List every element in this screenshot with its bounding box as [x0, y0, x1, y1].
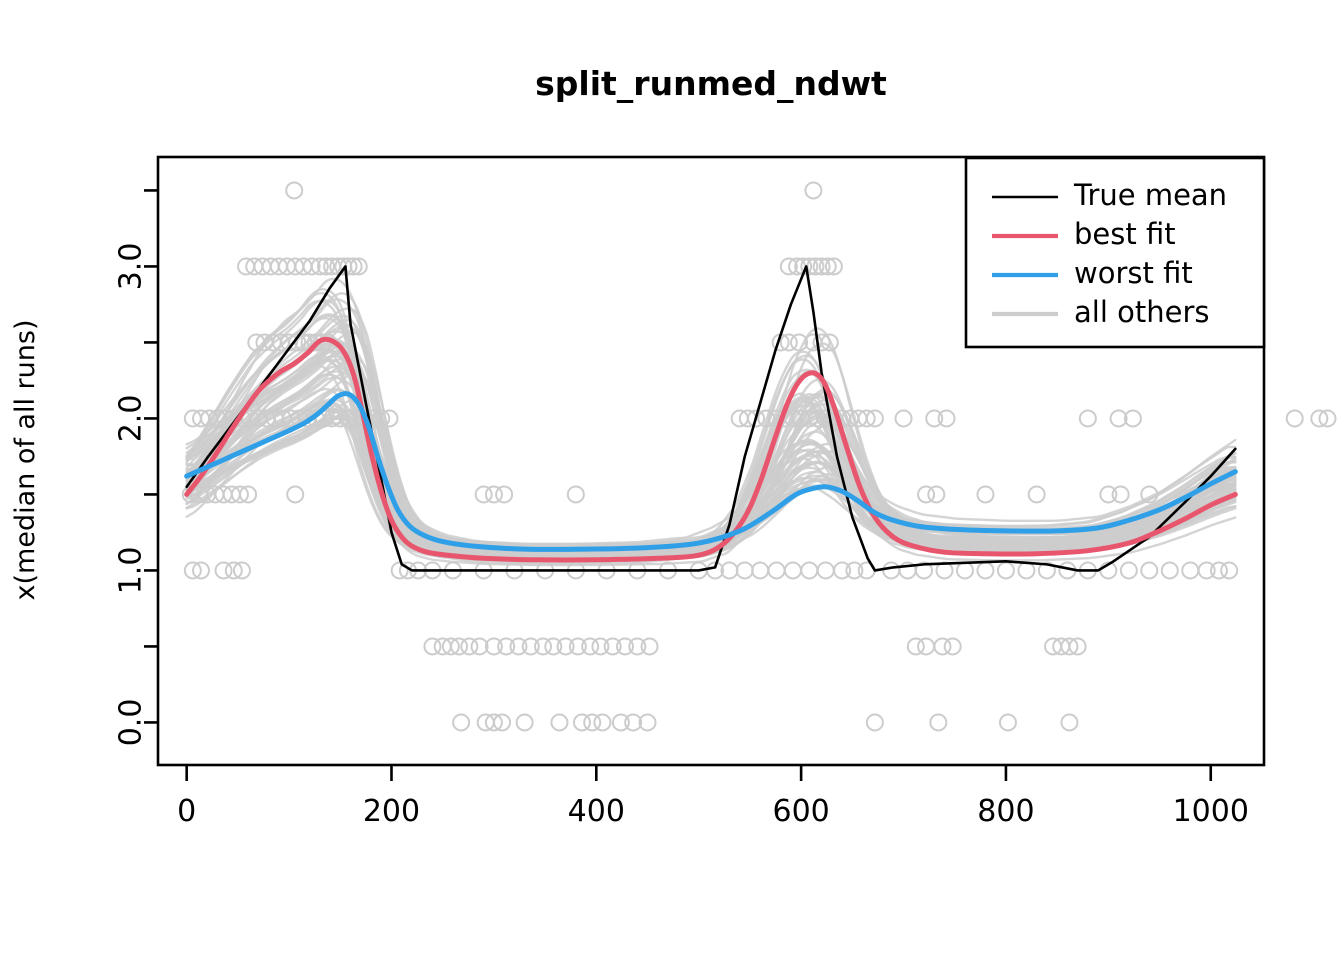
- x-tick-label: 1000: [1173, 794, 1249, 829]
- y-tick-label: 3.0: [114, 243, 149, 291]
- x-tick-label: 400: [568, 794, 625, 829]
- chart-figure: split_runmed_ndwt x(median of all runs) …: [0, 0, 1344, 960]
- legend-label-worst-fit: worst fit: [1074, 256, 1193, 290]
- y-axis-label: x(median of all runs): [10, 320, 41, 601]
- y-tick-label: 0.0: [114, 699, 149, 747]
- legend[interactable]: True meanbest fitworst fitall others: [966, 158, 1264, 347]
- x-tick-label: 0: [177, 794, 196, 829]
- y-tick-label: 2.0: [114, 395, 149, 443]
- y-tick-label: 1.0: [114, 547, 149, 595]
- legend-label-best-fit: best fit: [1074, 217, 1176, 251]
- x-tick-label: 800: [977, 794, 1034, 829]
- legend-label-true-mean: True mean: [1073, 178, 1227, 212]
- legend-label-all-others: all others: [1074, 295, 1209, 329]
- x-tick-label: 200: [363, 794, 420, 829]
- page-title: split_runmed_ndwt: [535, 64, 887, 103]
- x-tick-label: 600: [772, 794, 829, 829]
